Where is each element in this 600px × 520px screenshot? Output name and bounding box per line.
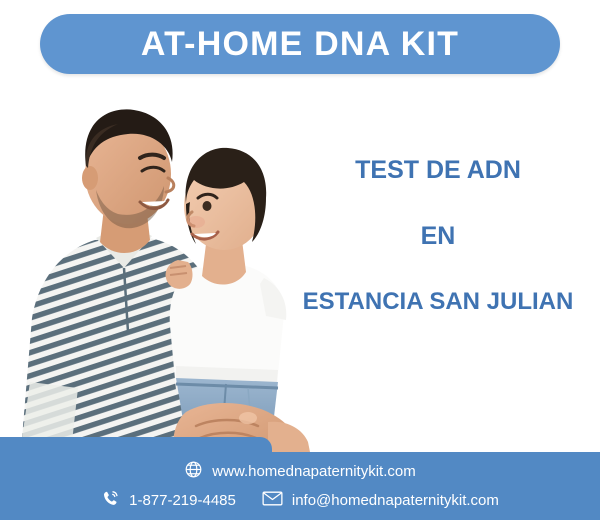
headline-block: TEST DE ADN EN ESTANCIA SAN JULIAN bbox=[288, 158, 588, 314]
headline-line-1: TEST DE ADN bbox=[288, 158, 588, 183]
globe-icon bbox=[184, 460, 203, 484]
footer-website-text: www.homednapaternitykit.com bbox=[212, 464, 415, 479]
headline-line-3: ESTANCIA SAN JULIAN bbox=[288, 290, 588, 314]
footer-phone[interactable]: 1-877-219-4485 bbox=[101, 489, 236, 513]
footer-website[interactable]: www.homednapaternitykit.com bbox=[184, 460, 415, 484]
headline-line-2: EN bbox=[288, 224, 588, 249]
footer-row-contact: 1-877-219-4485 info@homednapaternitykit.… bbox=[101, 489, 499, 513]
poster: AT-HOME DNA KIT bbox=[0, 0, 600, 520]
header-banner: AT-HOME DNA KIT bbox=[40, 14, 560, 74]
footer-phone-text: 1-877-219-4485 bbox=[129, 493, 236, 508]
footer-email[interactable]: info@homednapaternitykit.com bbox=[262, 489, 499, 513]
banner-title: AT-HOME DNA KIT bbox=[141, 27, 459, 61]
footer-row-website: www.homednapaternitykit.com bbox=[184, 460, 415, 484]
envelope-icon bbox=[262, 489, 283, 513]
footer-email-text: info@homednapaternitykit.com bbox=[292, 493, 499, 508]
phone-icon bbox=[101, 489, 120, 513]
footer-content: www.homednapaternitykit.com 1-877-219-44… bbox=[0, 452, 600, 520]
